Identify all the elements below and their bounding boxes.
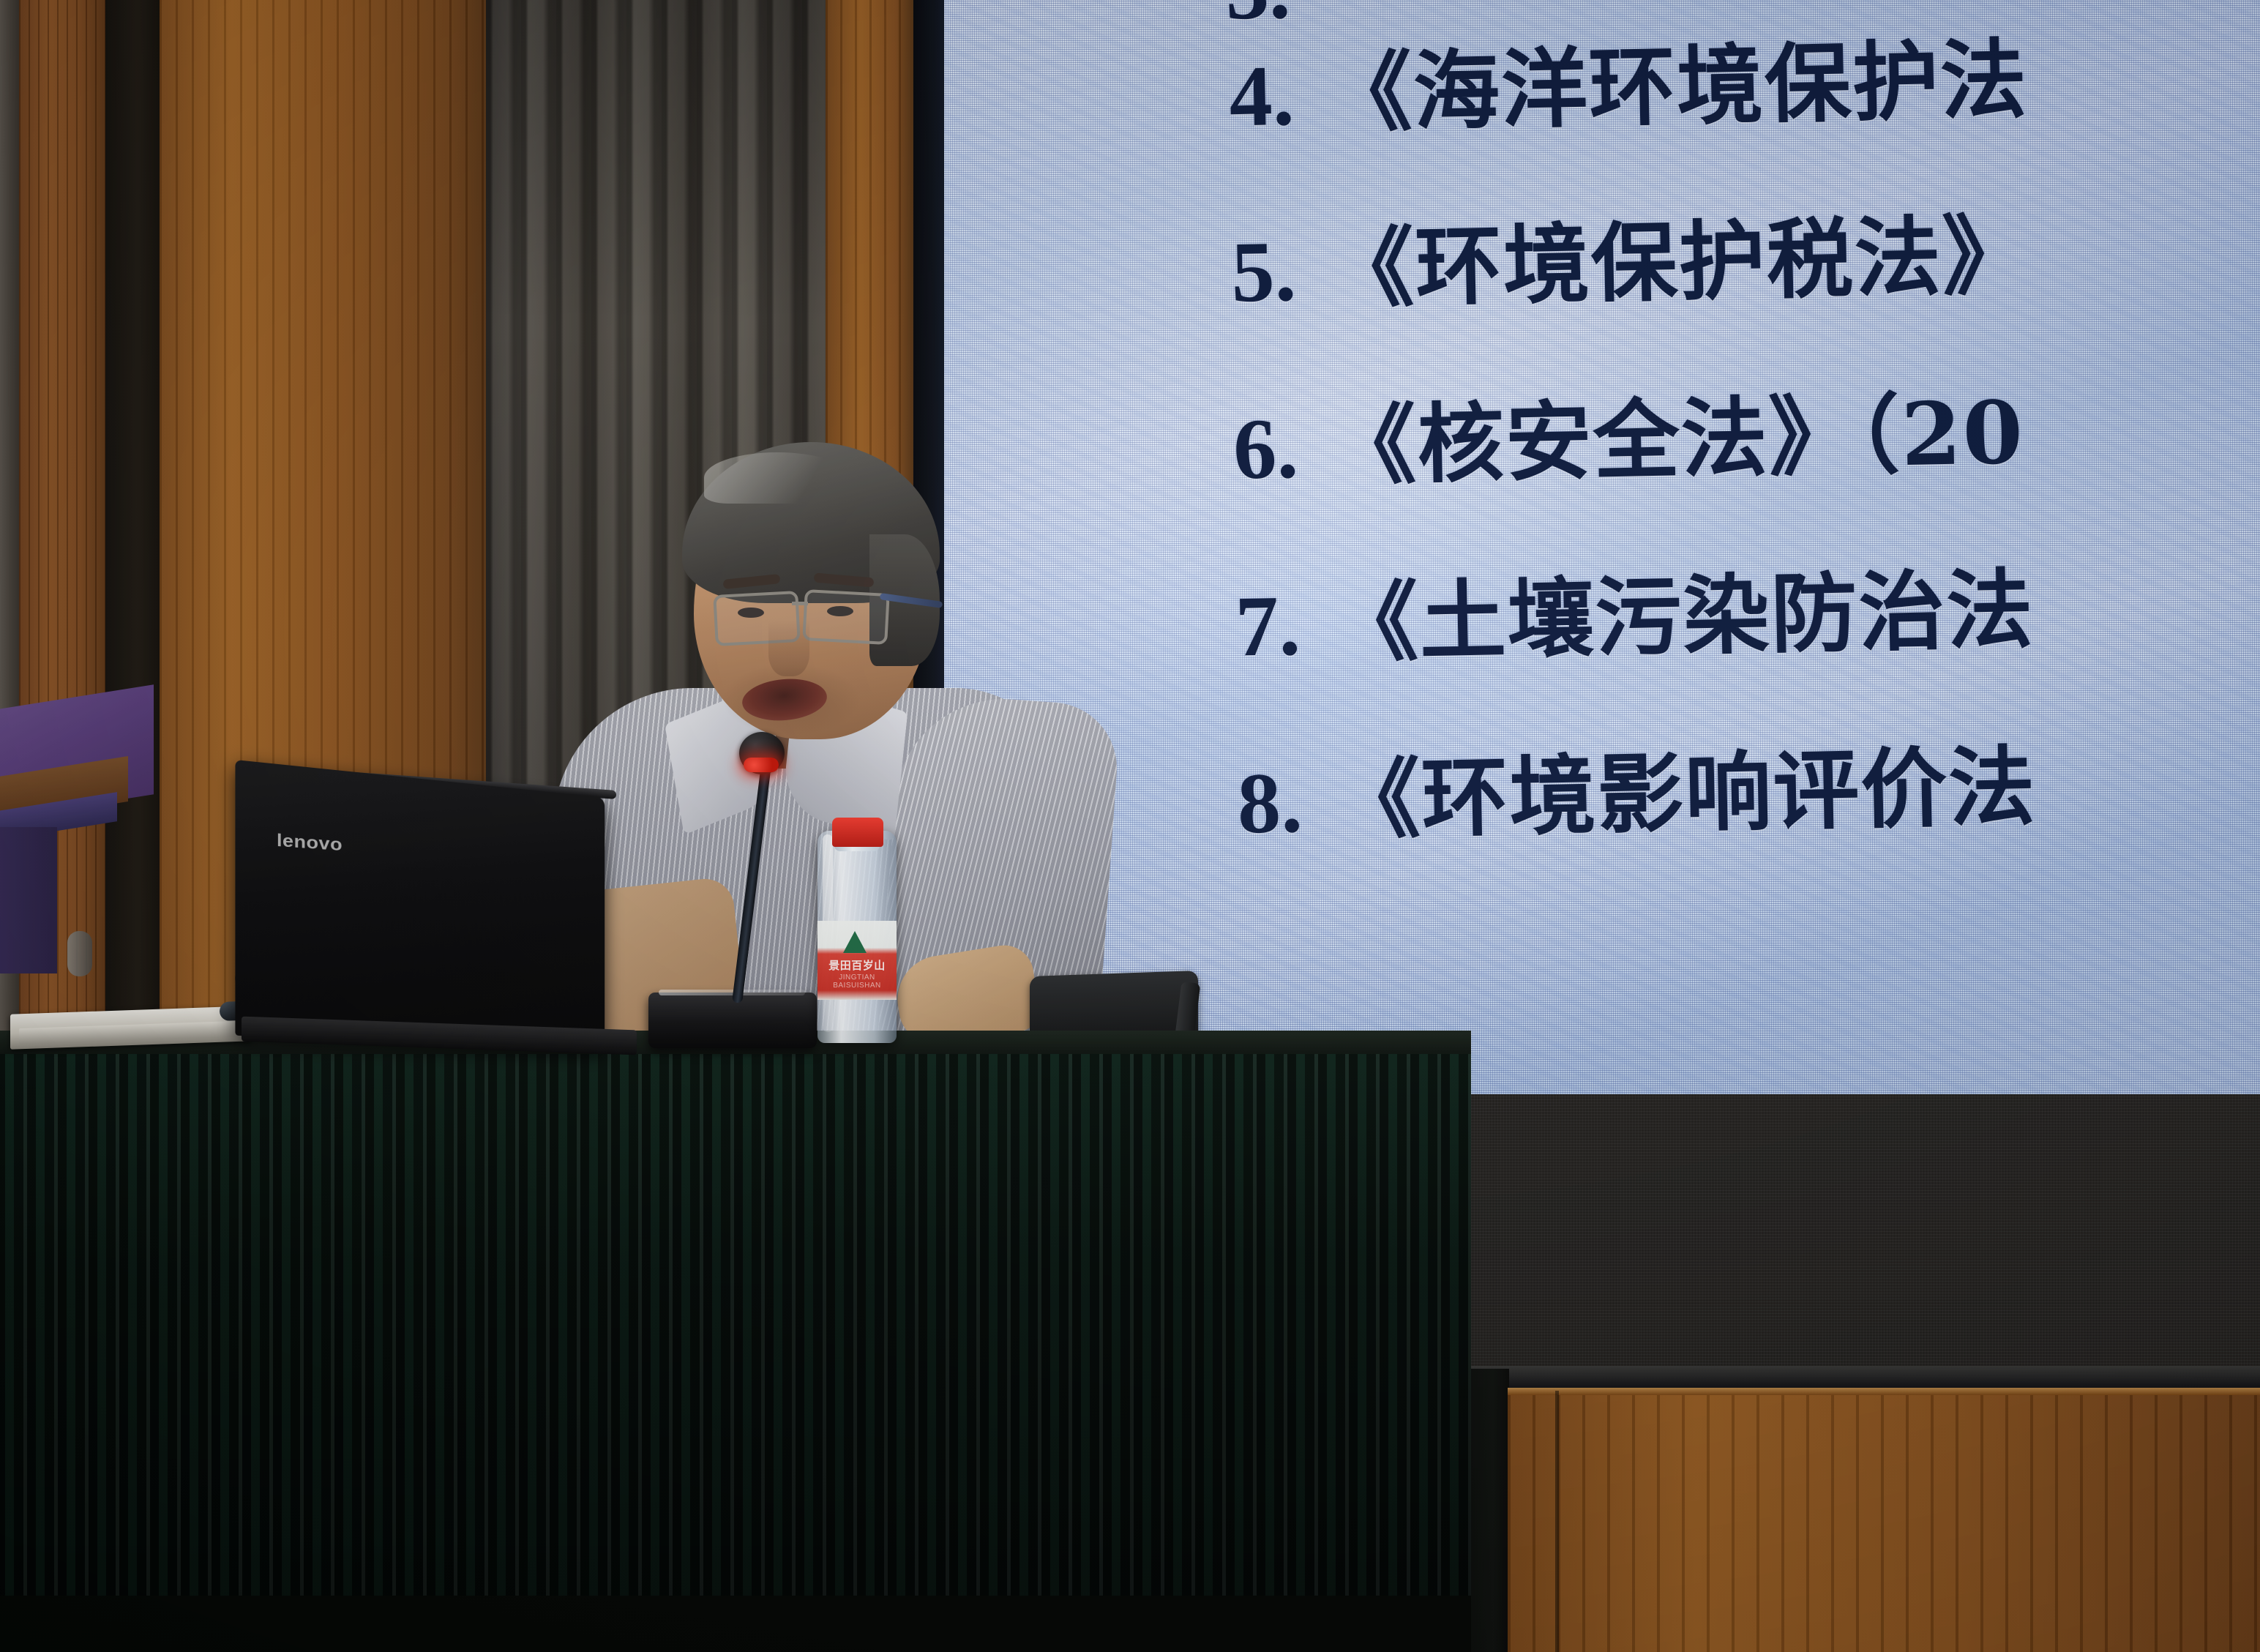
speaker-hair-highlight xyxy=(704,452,850,504)
slide-content: 3. 4. 《海洋环境保护法 5. 《环境保护税法》 6. 《核安全法》（20 … xyxy=(944,0,2260,1094)
lower-wood-top-trim xyxy=(1508,1388,2260,1395)
slide-list-item: 7. 《土壤污染防治法 xyxy=(1234,539,2035,681)
bottle-leaf-icon xyxy=(843,931,867,953)
table-skirt xyxy=(0,1054,1471,1652)
microphone-base-unit[interactable] xyxy=(648,993,817,1048)
bottle-cap[interactable] xyxy=(832,818,883,847)
slide-item-number: 7. xyxy=(1235,578,1301,675)
presentation-screen: 3. 4. 《海洋环境保护法 5. 《环境保护税法》 6. 《核安全法》（20 … xyxy=(944,0,2260,1094)
lectern-hardware xyxy=(67,931,92,976)
glasses-bridge xyxy=(792,602,808,605)
slide-list-item: 5. 《环境保护税法》 xyxy=(1230,185,2031,326)
lectern-post xyxy=(0,827,57,973)
microphone-status-led xyxy=(744,758,779,772)
slide-item-text: 《核安全法》（20 xyxy=(1328,381,2025,497)
slide-item-number: 4. xyxy=(1228,48,1295,145)
slide-item-text: 《环境影响评价法 xyxy=(1333,736,2038,851)
slide-list-item: 8. 《环境影响评价法 xyxy=(1236,717,2038,858)
slide-list-item: 6. 《核安全法》（20 xyxy=(1232,362,2025,504)
slide-list-item: 4. 《海洋环境保护法 xyxy=(1228,10,2029,151)
stage-floor xyxy=(0,1596,1471,1652)
lower-wood-seam xyxy=(1555,1391,1559,1652)
bottle-label-secondary-text: JINGTIAN BAISUISHAN xyxy=(819,973,895,990)
lecture-photo-scene: 3. 4. 《海洋环境保护法 5. 《环境保护税法》 6. 《核安全法》（20 … xyxy=(0,0,2260,1652)
slide-item-number: 8. xyxy=(1237,755,1303,852)
wall-dark-gap xyxy=(105,0,160,1076)
slide-item-text: 《土壤污染防治法 xyxy=(1331,558,2035,674)
laptop[interactable] xyxy=(235,760,605,1050)
glasses-lens-right xyxy=(802,589,890,645)
lower-wood-paneling xyxy=(1508,1391,2260,1652)
slide-item-number: 6. xyxy=(1232,400,1299,498)
bottle-label-primary-text: 景田百岁山 xyxy=(819,957,895,973)
slide-item-text: 《海洋环境保护法 xyxy=(1325,29,2029,144)
microphone-base-highlight xyxy=(659,990,805,995)
slide-item-number: 5. xyxy=(1230,223,1297,321)
slide-item-text: 《环境保护税法》 xyxy=(1327,204,2032,320)
